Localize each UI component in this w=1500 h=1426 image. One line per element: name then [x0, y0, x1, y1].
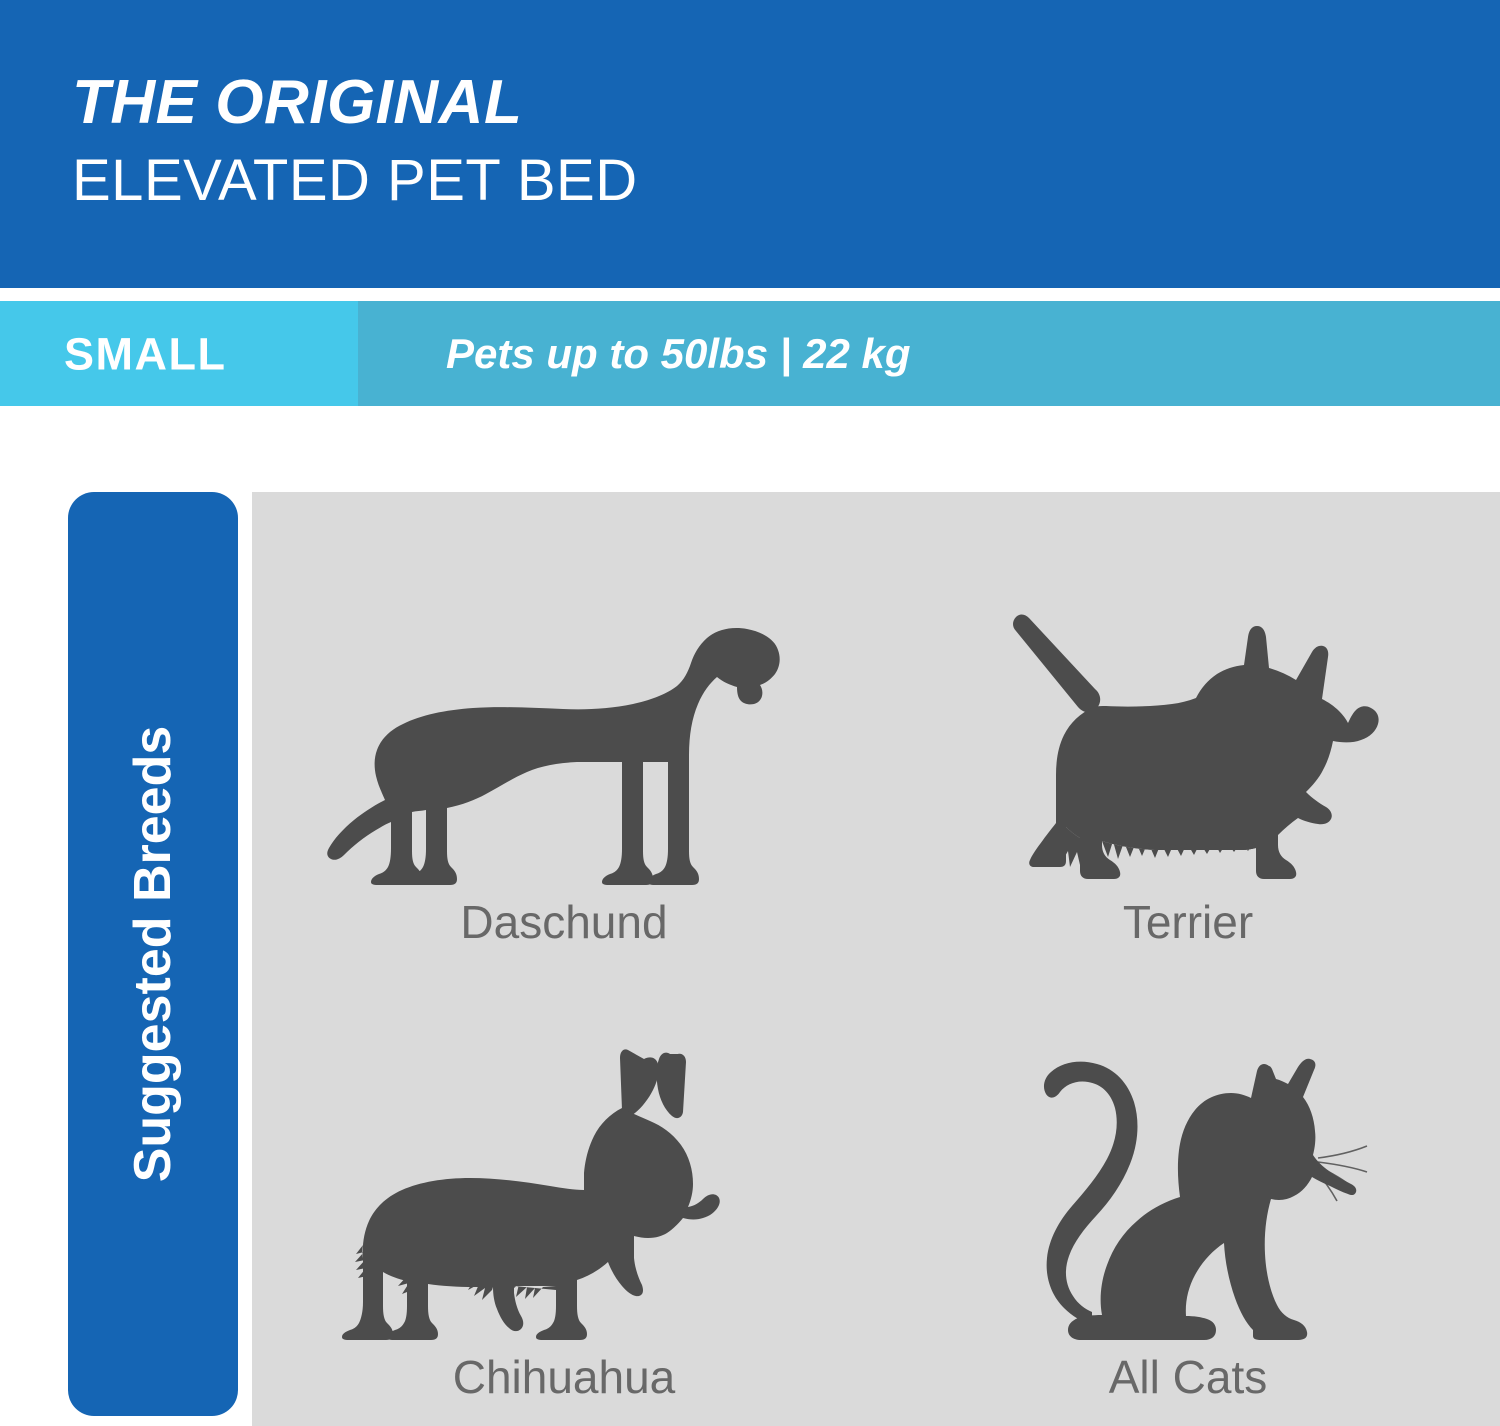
- breed-label: Terrier: [1123, 899, 1253, 945]
- product-header: THE ORIGINAL ELEVATED PET BED: [0, 0, 1500, 288]
- suggested-breeds-sidebar: Suggested Breeds: [68, 492, 238, 1416]
- size-description-bar: Pets up to 50lbs | 22 kg: [358, 301, 1500, 406]
- size-description-label: Pets up to 50lbs | 22 kg: [446, 333, 911, 375]
- dachshund-silhouette-icon: [323, 565, 793, 885]
- terrier-silhouette-icon: [998, 565, 1398, 885]
- breeds-grid: Daschund: [252, 492, 1500, 1426]
- suggested-breeds-sidebar-label: Suggested Breeds: [127, 726, 179, 1183]
- breed-item-all-cats: All Cats: [876, 959, 1500, 1426]
- size-banner: SMALL Pets up to 50lbs | 22 kg: [0, 301, 1500, 406]
- breed-label: Daschund: [460, 899, 667, 945]
- size-badge-label: SMALL: [64, 331, 226, 376]
- header-title-product: ELEVATED PET BED: [72, 152, 638, 210]
- size-badge: SMALL: [0, 301, 358, 406]
- header-title-original: THE ORIGINAL: [72, 72, 522, 134]
- cat-silhouette-icon: [1018, 1020, 1378, 1340]
- chihuahua-silhouette-icon: [340, 1020, 760, 1340]
- breed-item-daschund: Daschund: [252, 492, 876, 959]
- breeds-panel: Daschund: [252, 492, 1500, 1426]
- breed-label: Chihuahua: [453, 1354, 676, 1400]
- breed-item-terrier: Terrier: [876, 492, 1500, 959]
- breed-label: All Cats: [1109, 1354, 1267, 1400]
- breeds-section: Suggested Breeds Daschund: [0, 406, 1500, 1426]
- breed-item-chihuahua: Chihuahua: [252, 959, 876, 1426]
